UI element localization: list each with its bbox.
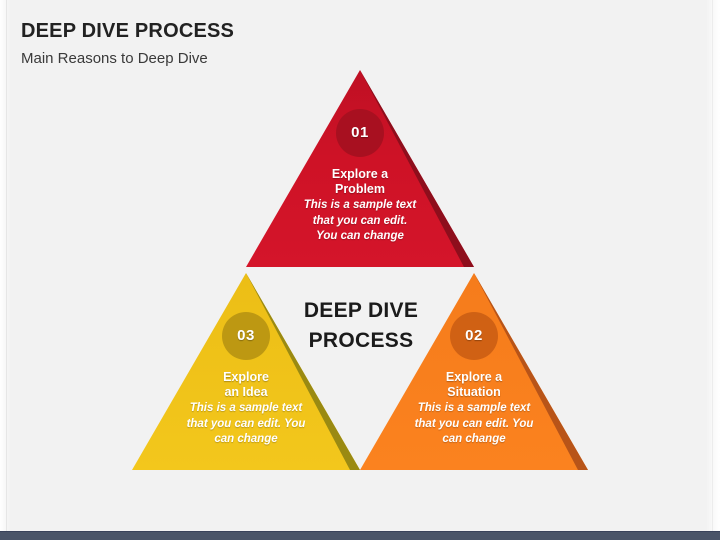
step-number-01: 01 [340, 113, 380, 153]
page-title: DEEP DIVE PROCESS [21, 19, 541, 43]
step-number-03: 03 [226, 316, 266, 356]
pyramid-diagram: 01 Explore a Problem This is a sample te… [98, 62, 622, 476]
triangle-step-01[interactable] [246, 70, 474, 267]
step-number-02: 02 [454, 316, 494, 356]
center-caption-line1: DEEP DIVE [276, 296, 446, 326]
center-caption: DEEP DIVE PROCESS [276, 296, 446, 356]
center-caption-line2: PROCESS [276, 326, 446, 356]
slide-canvas: DEEP DIVE PROCESS Main Reasons to Deep D… [0, 0, 720, 539]
